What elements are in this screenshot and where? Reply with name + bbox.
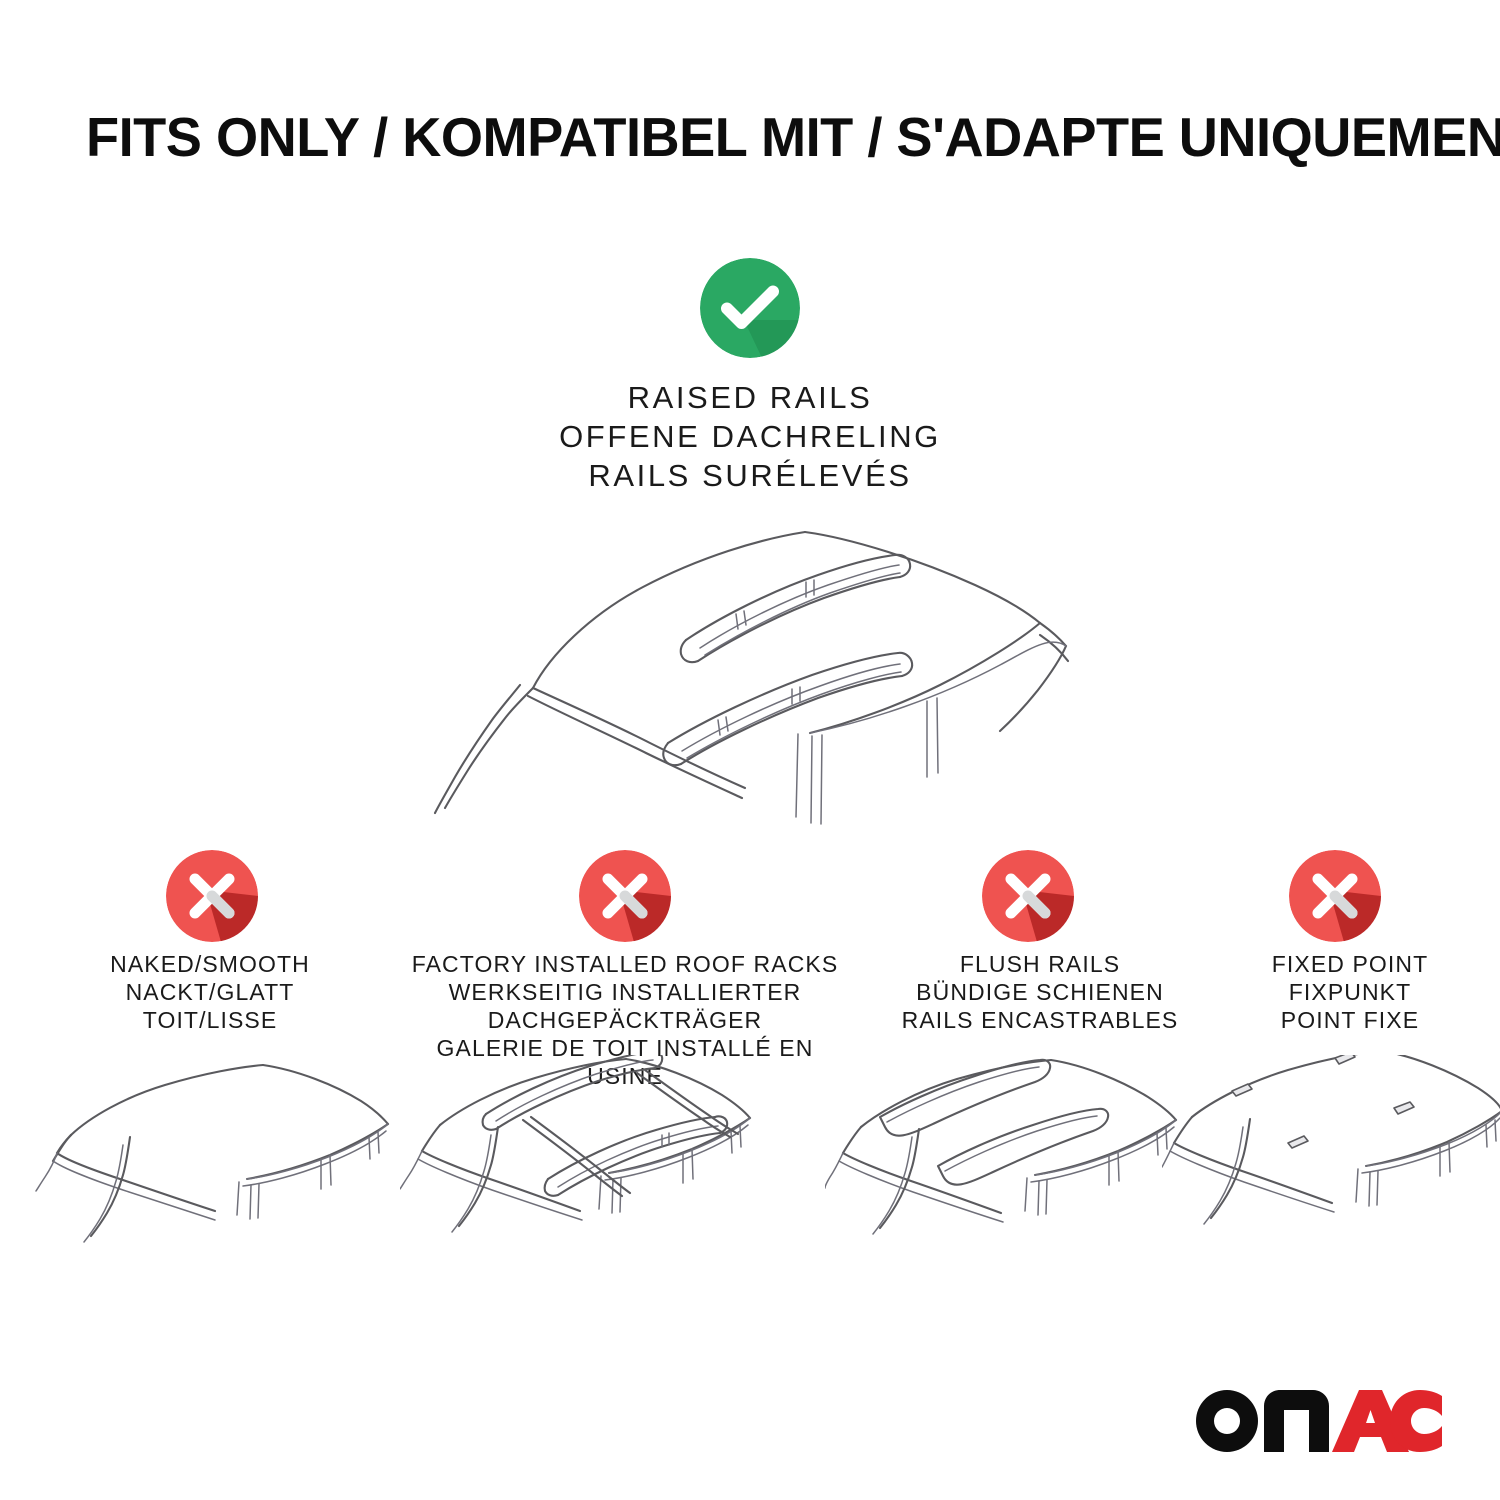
page-title: FITS ONLY / KOMPATIBEL MIT / S'ADAPTE UN… — [86, 105, 1406, 169]
label-line-de: NACKT/GLATT — [20, 978, 400, 1006]
label-line-de-2: DACHGEPÄCKTRÄGER — [395, 1006, 855, 1034]
incompatible-label-naked-smooth: NAKED/SMOOTH NACKT/GLATT TOIT/LISSE — [20, 950, 400, 1034]
label-line-de: FIXPUNKT — [1200, 978, 1500, 1006]
label-line-en: FLUSH RAILS — [850, 950, 1230, 978]
omac-logo — [1196, 1390, 1442, 1452]
car-roof-with-factory-crossbars-illustration — [400, 1055, 760, 1285]
fitment-infographic: FITS ONLY / KOMPATIBEL MIT / S'ADAPTE UN… — [0, 0, 1500, 1500]
red-cross-icon — [1289, 850, 1381, 942]
label-line-en: FIXED POINT — [1200, 950, 1500, 978]
incompatible-label-flush-rails: FLUSH RAILS BÜNDIGE SCHIENEN RAILS ENCAS… — [850, 950, 1230, 1034]
car-roof-with-flush-rails-illustration — [825, 1055, 1185, 1285]
red-cross-icon — [579, 850, 671, 942]
green-check-icon — [700, 258, 800, 358]
compatible-label: RAISED RAILS OFFENE DACHRELING RAILS SUR… — [380, 378, 1120, 495]
label-line-de: BÜNDIGE SCHIENEN — [850, 978, 1230, 1006]
car-roof-naked-smooth-illustration — [35, 1055, 395, 1285]
logo-letter-m — [1264, 1390, 1329, 1452]
car-roof-with-raised-rails-illustration — [400, 505, 1100, 835]
label-line-fr: RAILS ENCASTRABLES — [850, 1006, 1230, 1034]
label-line-de-1: WERKSEITIG INSTALLIERTER — [395, 978, 855, 1006]
label-line-fr: POINT FIXE — [1200, 1006, 1500, 1034]
car-roof-fixed-point-illustration — [1162, 1055, 1500, 1285]
label-line-fr: TOIT/LISSE — [20, 1006, 400, 1034]
incompatible-label-fixed-point: FIXED POINT FIXPUNKT POINT FIXE — [1200, 950, 1500, 1034]
compatible-label-line-fr: RAILS SURÉLEVÉS — [380, 456, 1120, 495]
red-cross-icon — [166, 850, 258, 942]
compatible-label-line-de: OFFENE DACHRELING — [380, 417, 1120, 456]
compatible-label-line-en: RAISED RAILS — [380, 378, 1120, 417]
red-cross-icon — [982, 850, 1074, 942]
label-line-en: FACTORY INSTALLED ROOF RACKS — [395, 950, 855, 978]
label-line-en: NAKED/SMOOTH — [20, 950, 400, 978]
